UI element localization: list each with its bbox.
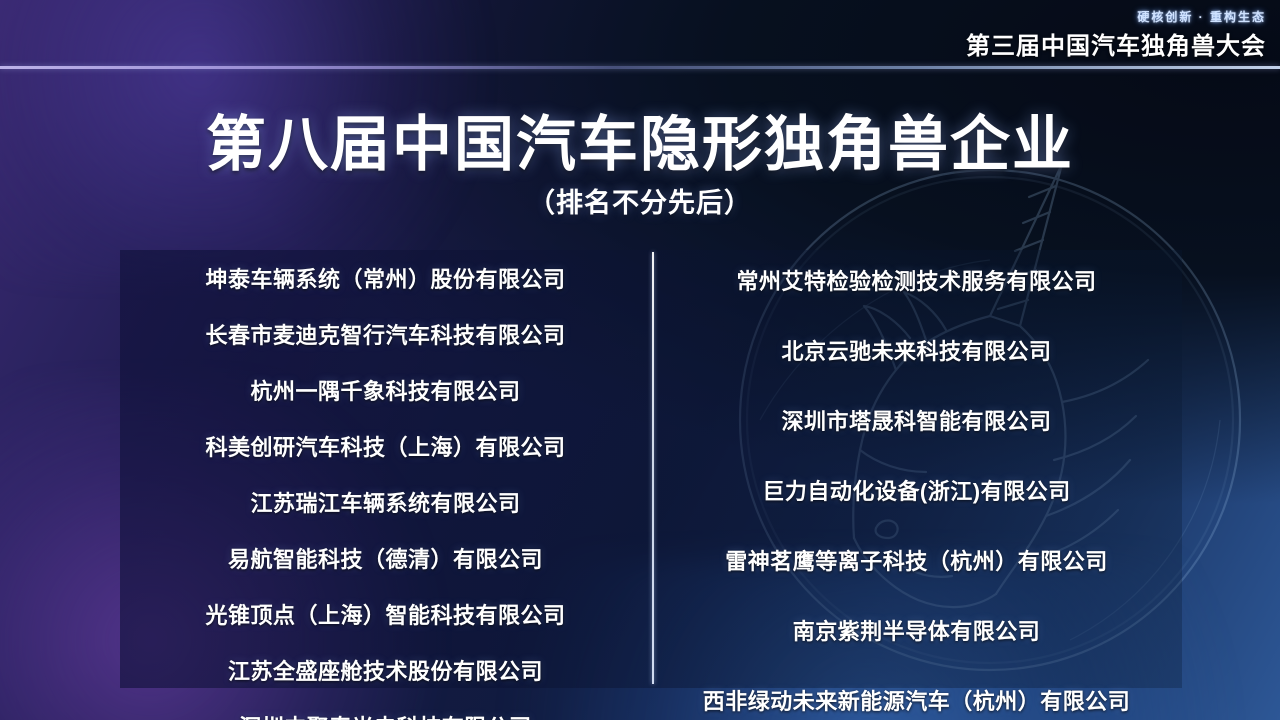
company-list-right-column: 常州艾特检验检测技术服务有限公司 北京云驰未来科技有限公司 深圳市塔晟科智能有限… — [651, 250, 1182, 688]
header-divider-line — [0, 66, 1280, 69]
page-subtitle: （排名不分先后） — [0, 181, 1280, 220]
list-item: 南京紫荆半导体有限公司 — [793, 614, 1041, 646]
list-item: 易航智能科技（德清）有限公司 — [228, 542, 543, 574]
list-item: 长春市麦迪克智行汽车科技有限公司 — [205, 318, 565, 350]
presentation-slide: 硬核创新 · 重构生态 第三届中国汽车独角兽大会 第八届中国汽车隐形独角兽企业 … — [0, 0, 1280, 720]
conference-title: 第三届中国汽车独角兽大会 — [966, 26, 1266, 61]
list-item: 杭州一隅千象科技有限公司 — [250, 374, 520, 406]
list-item: 光锥顶点（上海）智能科技有限公司 — [205, 598, 565, 630]
list-item: 北京云驰未来科技有限公司 — [781, 334, 1051, 366]
list-item: 江苏瑞江车辆系统有限公司 — [250, 486, 520, 518]
company-list: 坤泰车辆系统（常州）股份有限公司 长春市麦迪克智行汽车科技有限公司 杭州一隅千象… — [120, 250, 1182, 688]
list-item: 巨力自动化设备(浙江)有限公司 — [762, 474, 1070, 506]
list-item: 坤泰车辆系统（常州）股份有限公司 — [205, 262, 565, 294]
list-item: 雷神茗鹰等离子科技（杭州）有限公司 — [725, 544, 1108, 576]
page-title: 第八届中国汽车隐形独角兽企业 — [0, 96, 1280, 183]
list-item: 常州艾特检验检测技术服务有限公司 — [736, 264, 1096, 296]
list-item: 西非绿动未来新能源汽车（杭州）有限公司 — [703, 684, 1131, 716]
list-item: 深圳市塔晟科智能有限公司 — [781, 404, 1051, 436]
company-list-left-column: 坤泰车辆系统（常州）股份有限公司 长春市麦迪克智行汽车科技有限公司 杭州一隅千象… — [120, 250, 651, 688]
list-item: 深圳中聚泰光电科技有限公司 — [239, 710, 532, 720]
header-tagline: 硬核创新 · 重构生态 — [1137, 8, 1266, 25]
list-item: 科美创研汽车科技（上海）有限公司 — [205, 430, 565, 462]
list-item: 江苏全盛座舱技术股份有限公司 — [228, 654, 543, 686]
